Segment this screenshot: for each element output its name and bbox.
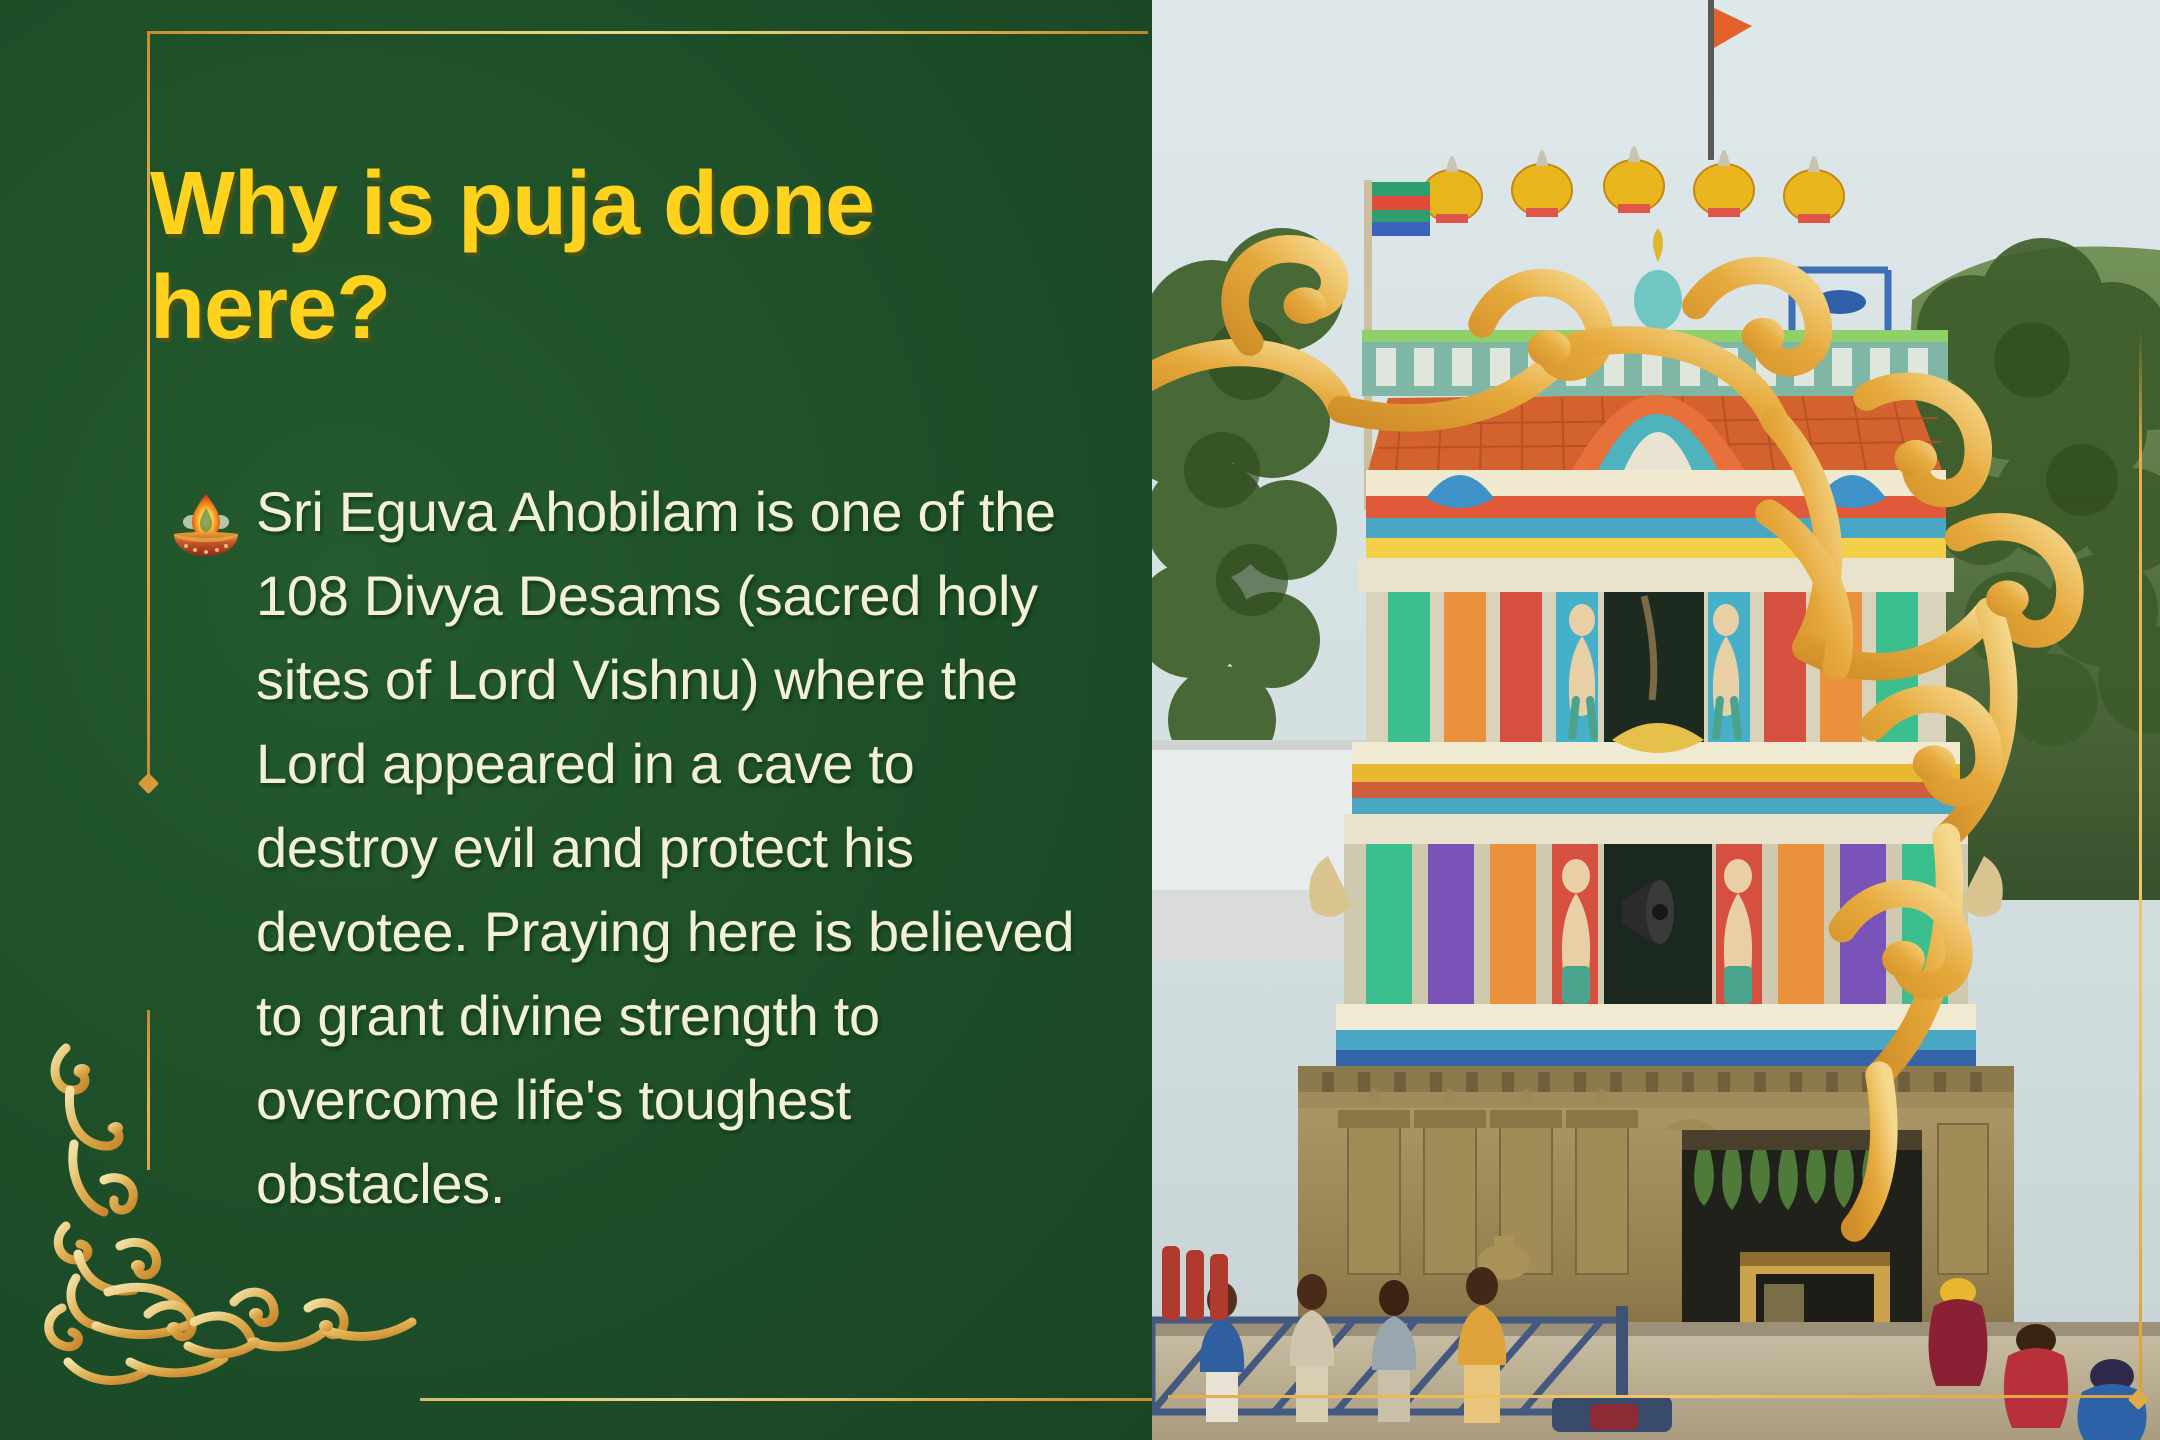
content-panel: Why is puja done here? (0, 0, 1152, 1440)
diya-lamp-icon (170, 486, 242, 558)
page-title: Why is puja done here? (150, 152, 1030, 361)
body-block: Sri Eguva Ahobilam is one of the 108 Div… (170, 470, 1100, 1226)
gold-diamond-marker-left (138, 773, 159, 794)
gold-frame-top-line (148, 31, 1148, 34)
gold-frame-bottom-line (420, 1398, 1152, 1401)
body-text: Sri Eguva Ahobilam is one of the 108 Div… (256, 470, 1100, 1226)
temple-photo (1152, 0, 2160, 1440)
gold-floral-flourish-top-right (1152, 4, 2154, 1440)
gold-frame-left-line (147, 31, 150, 791)
slide-root: Why is puja done here? (0, 0, 2160, 1440)
